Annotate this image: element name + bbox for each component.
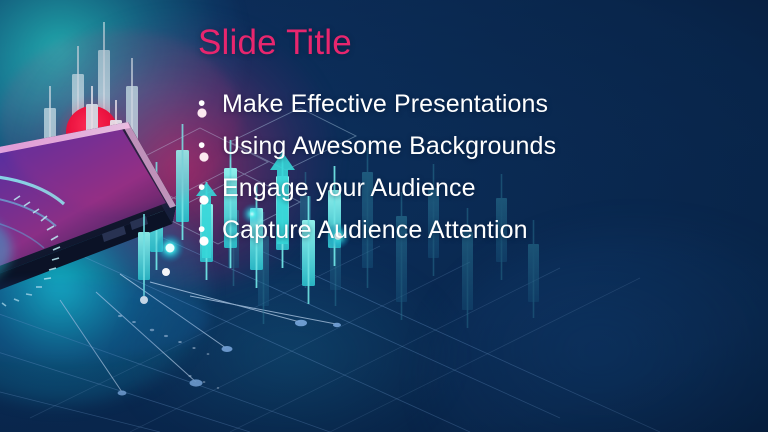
list-item: • Make Effective Presentations xyxy=(198,91,758,118)
bullet-marker-icon: • xyxy=(198,177,222,198)
bullet-text: Capture Audience Attention xyxy=(222,217,528,244)
bullet-marker-icon: • xyxy=(198,219,222,240)
presentation-slide: Slide Title • Make Effective Presentatio… xyxy=(0,0,768,432)
page-title: Slide Title xyxy=(198,24,758,63)
list-item: • Using Awesome Backgrounds xyxy=(198,133,758,160)
bullet-marker-icon: • xyxy=(198,93,222,114)
bullet-text: Using Awesome Backgrounds xyxy=(222,133,556,160)
bullet-list: • Make Effective Presentations • Using A… xyxy=(198,91,758,244)
slide-content: Slide Title • Make Effective Presentatio… xyxy=(198,24,758,259)
list-item: • Engage your Audience xyxy=(198,175,758,202)
bullet-text: Engage your Audience xyxy=(222,175,476,202)
bullet-marker-icon: • xyxy=(198,135,222,156)
bullet-text: Make Effective Presentations xyxy=(222,91,548,118)
list-item: • Capture Audience Attention xyxy=(198,217,758,244)
